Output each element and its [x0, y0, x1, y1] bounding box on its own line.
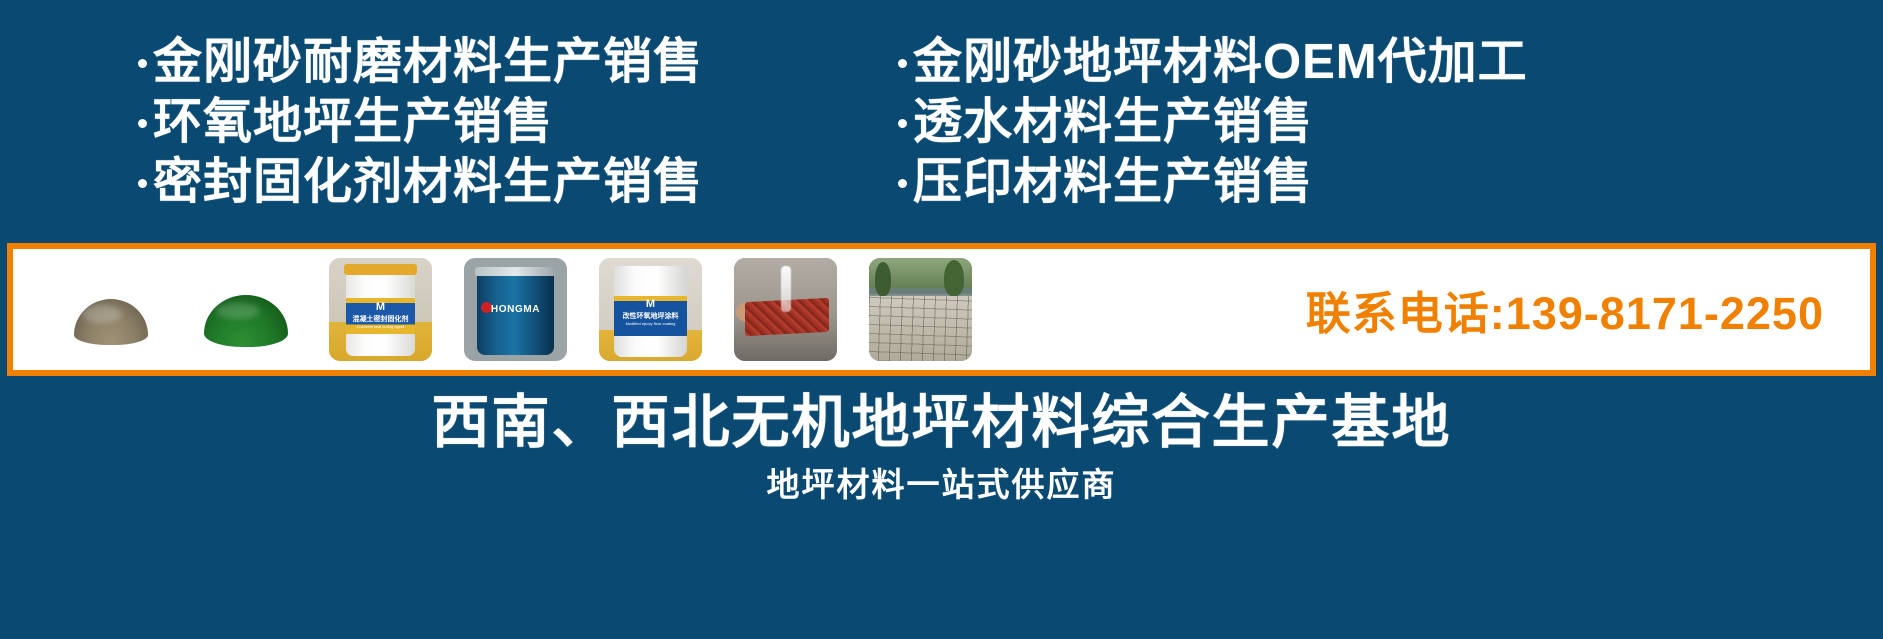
drum-rim-shape	[475, 267, 556, 276]
service-item-stamped: 压印材料生产销售	[898, 154, 1883, 211]
service-item-epoxy: 环氧地坪生产销售	[138, 94, 880, 151]
contact-phone[interactable]: 联系电话:139-8171-2250	[1306, 277, 1824, 342]
service-label: 压印材料生产销售	[913, 154, 1313, 211]
promo-banner: 金刚砂耐磨材料生产销售 环氧地坪生产销售 密封固化剂材料生产销售 金刚砂地坪材料…	[0, 0, 1883, 639]
service-item-oem: 金刚砂地坪材料OEM代加工	[898, 34, 1883, 91]
product-thumbnail-list: M 混凝土密封固化剂 Concrete seal curing agent HO…	[13, 258, 1004, 361]
service-label: 密封固化剂材料生产销售	[153, 154, 703, 211]
pail-label-en: Concrete seal curing agent	[357, 324, 405, 329]
product-photo-abrasive-sand	[59, 258, 162, 361]
product-photo-sealer-pail: M 混凝土密封固化剂 Concrete seal curing agent	[329, 258, 432, 361]
page-title: 西南、西北无机地坪材料综合生产基地	[0, 386, 1883, 460]
product-photo-hongma-drum: HONGMA	[464, 258, 567, 361]
product-photo-green-aggregate	[194, 258, 297, 361]
bullet-dot-icon	[138, 119, 147, 128]
services-section: 金刚砂耐磨材料生产销售 环氧地坪生产销售 密封固化剂材料生产销售 金刚砂地坪材料…	[0, 34, 1883, 234]
pail-label-cn: 混凝土密封固化剂	[353, 316, 409, 324]
green-heap-shape	[204, 295, 288, 347]
brand-glyph: M	[646, 299, 655, 310]
bullet-dot-icon	[898, 179, 907, 188]
service-label: 环氧地坪生产销售	[153, 94, 553, 151]
product-strip: M 混凝土密封固化剂 Concrete seal curing agent HO…	[7, 243, 1876, 376]
service-label: 金刚砂地坪材料OEM代加工	[913, 34, 1528, 91]
service-label: 金刚砂耐磨材料生产销售	[153, 34, 703, 91]
paving-texture-shape	[869, 296, 972, 361]
tree-shape	[944, 260, 964, 296]
drum-brand-text: HONGMA	[491, 304, 540, 315]
pail-lid-shape	[344, 264, 417, 275]
bullet-dot-icon	[138, 179, 147, 188]
service-item-abrasive: 金刚砂耐磨材料生产销售	[138, 34, 880, 91]
bullet-dot-icon	[898, 59, 907, 68]
water-stream-shape	[781, 266, 791, 312]
bullet-dot-icon	[898, 119, 907, 128]
pail-label-cn: 改性环氧地坪涂料	[623, 313, 679, 321]
services-right-column: 金刚砂地坪材料OEM代加工 透水材料生产销售 压印材料生产销售	[880, 34, 1883, 214]
service-item-sealer: 密封固化剂材料生产销售	[138, 154, 880, 211]
page-subtitle: 地坪材料一站式供应商	[0, 463, 1883, 507]
services-left-column: 金刚砂耐磨材料生产销售 环氧地坪生产销售 密封固化剂材料生产销售	[0, 34, 880, 214]
tree-shape	[875, 262, 891, 296]
service-label: 透水材料生产销售	[913, 94, 1313, 151]
sand-heap-shape	[74, 299, 148, 345]
product-photo-permeable-sample	[734, 258, 837, 361]
bullet-dot-icon	[138, 59, 147, 68]
product-photo-epoxy-pail: M 改性环氧地坪涂料 Modified epoxy floor coating	[599, 258, 702, 361]
product-photo-paving-path	[869, 258, 972, 361]
pail-label-en: Modified epoxy floor coating	[626, 321, 676, 326]
service-item-permeable: 透水材料生产销售	[898, 94, 1883, 151]
brand-glyph: M	[376, 302, 385, 313]
